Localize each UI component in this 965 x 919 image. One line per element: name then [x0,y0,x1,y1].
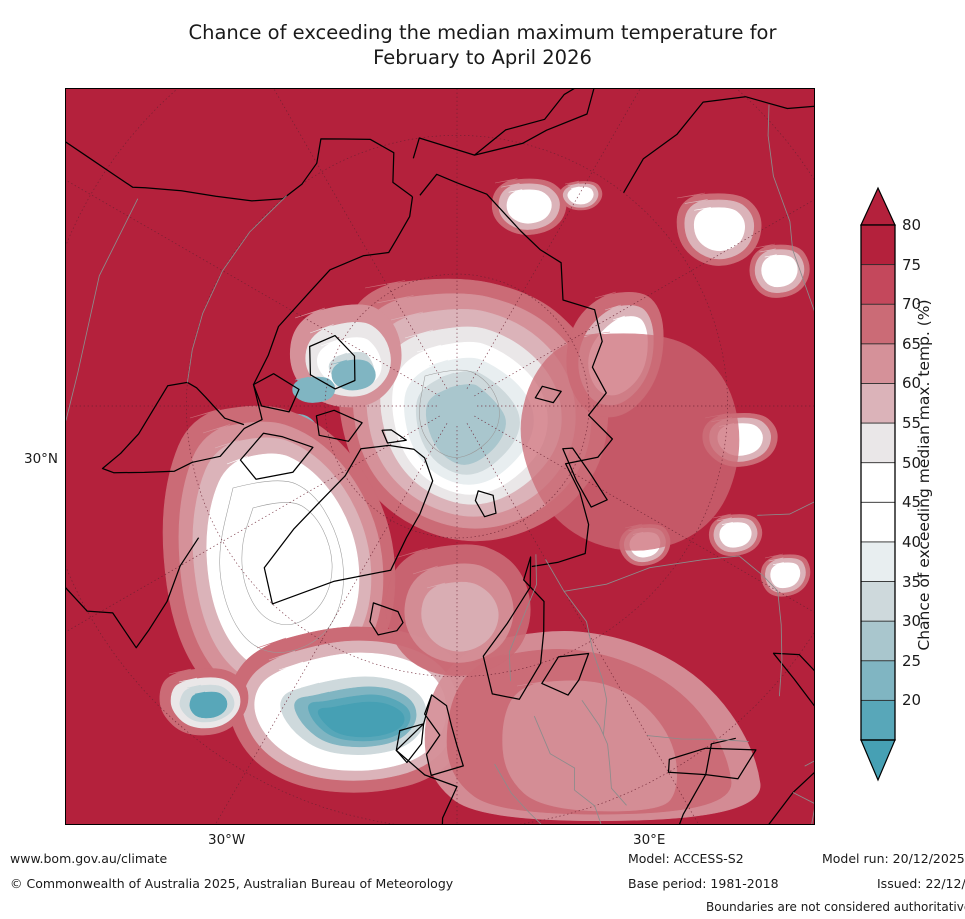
colorbar-axis-label: Chance of exceeding median max. temp. (%… [915,240,945,710]
map-layers [65,88,815,825]
colorbar-segment [861,225,895,265]
field-patch-core-2 [762,255,798,287]
colorbar-segment [861,383,895,423]
axis-label-latitude-30n: 30°N [24,451,58,467]
title-line-1: Chance of exceeding the median maximum t… [0,20,965,45]
colorbar-segment [861,423,895,463]
colorbar-segment [861,621,895,661]
footer-model-run: Model run: 20/12/2025 [822,851,965,866]
title-line-2: February to April 2026 [0,45,965,70]
colorbar-segment [861,304,895,344]
footer-model: Model: ACCESS-S2 [628,851,744,866]
colorbar-segment [861,502,895,542]
field-patch-core-3 [568,187,594,204]
colorbar-over-arrow [861,188,895,225]
colorbar-segment [861,700,895,740]
colorbar-under-arrow [861,740,895,780]
colorbar [857,186,899,782]
footer-boundaries-note: Boundaries are not considered authoritat… [706,900,965,914]
field-patch-core-0 [507,190,551,224]
axis-label-longitude-30e: 30°E [633,832,665,848]
page-title: Chance of exceeding the median maximum t… [0,20,965,70]
colorbar-segment [861,582,895,622]
field-pocket-chukchi [332,360,376,390]
footer-base-period: Base period: 1981-2018 [628,876,779,891]
colorbar-segment [861,344,895,384]
footer-issued: Issued: 22/12/2025 [877,876,965,891]
map-plot-area[interactable] [65,88,815,825]
axis-label-longitude-30w: 30°W [208,832,245,848]
footer-url[interactable]: www.bom.gov.au/climate [10,851,167,866]
probability-field [65,88,815,825]
colorbar-segment [861,265,895,305]
colorbar-segment [861,542,895,582]
footer-copyright: © Commonwealth of Australia 2025, Austra… [10,876,453,891]
colorbar-segment [861,661,895,701]
polar-stereographic-map [65,88,815,825]
colorbar-segment [861,463,895,503]
colorbar-tick-label: 80 [902,216,921,234]
